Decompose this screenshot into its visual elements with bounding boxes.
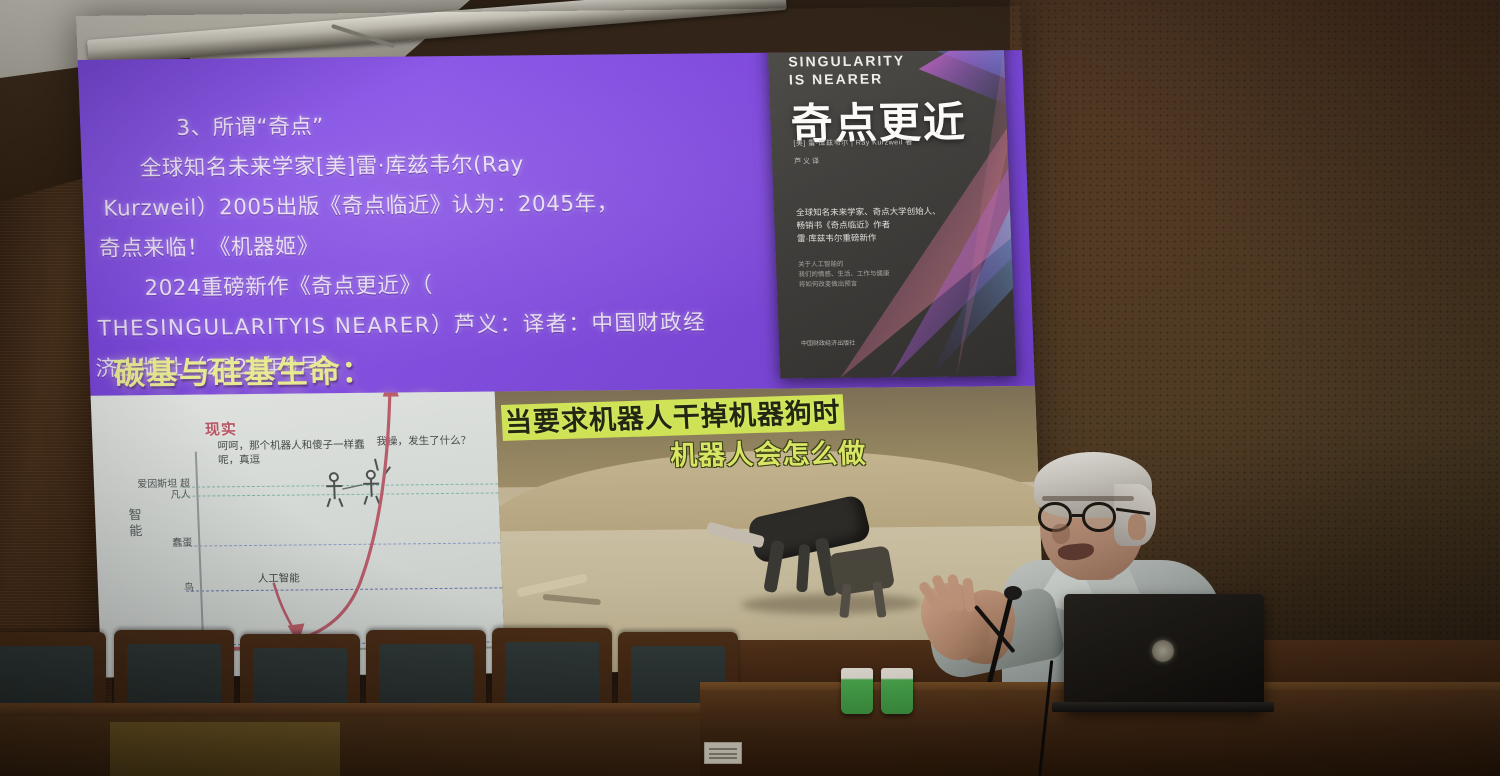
book-author-line: [美] 雷·库兹韦尔 | Ray Kurzweil 著 [793,137,913,148]
laptop-base [1052,702,1274,712]
laptop-logo-icon [1152,640,1174,662]
book-sub-blurb: 关于人工智能的 我们的情感、生活、工作与健康 将如何改变做出预言 [798,259,890,290]
photo-headline-line-2: 机器人会怎么做 [670,439,867,471]
slide-line-2: 全球知名未来学家[美]雷·库兹韦尔(Ray [139,142,797,189]
book-blurb-line-1: 全球知名未来学家、奇点大学创始人、 [796,205,941,220]
slide-line-5: 2024重磅新作《奇点更近》（ [144,262,802,309]
book-en-line-3: IS NEARER [789,69,907,88]
slide-purple-section: 3、所谓“奇点” 全球知名未来学家[美]雷·库兹韦尔(Ray Kurzweil）… [78,50,1035,400]
book-blurb-line-3: 雷·库兹韦尔重磅新作 [797,231,942,246]
glasses-bridge [1072,514,1084,517]
laptop [1064,594,1264,710]
book-publisher: 中国财政经济出版社 [801,338,855,348]
book-sub-line-2: 我们的情感、生活、工作与健康 [798,269,889,280]
paper-cup [841,668,873,714]
glasses-temple [1116,508,1150,516]
book-en-line-2: SINGULARITY [788,51,906,70]
glasses-lens-right [1082,502,1116,532]
slide-title-line-1: 碳基与硅基生命： [113,350,675,394]
slide-paragraph: 3、所谓“奇点” 全球知名未来学家[美]雷·库兹韦尔(Ray Kurzweil）… [104,102,805,389]
front-desk-panel [110,722,340,776]
lecture-hall-photo: 3、所谓“奇点” 全球知名未来学家[美]雷·库兹韦尔(Ray Kurzweil）… [0,0,1500,776]
front-desk [0,716,700,776]
desk-name-card [704,742,742,764]
book-cover-image: THE SINGULARITY IS NEARER 奇点更近 [美] 雷·库兹韦… [766,50,1016,378]
slide-line-6: THESINGULARITYIS NEARER）芦义：译者：中国财政经 [97,302,803,349]
slide-line-1: 3、所谓“奇点” [176,102,796,148]
presenter-nose [1052,524,1070,544]
presenter-brow [1042,496,1134,501]
book-blurb: 全球知名未来学家、奇点大学创始人、 畅销书《奇点临近》作者 雷·库兹韦尔重磅新作 [796,205,942,245]
book-english-title: THE SINGULARITY IS NEARER [787,50,906,88]
book-translator-line: 芦 义 译 [794,156,819,166]
microphone-capsule-icon [1004,586,1022,600]
photo-headline-line-1: 当要求机器人干掉机器狗时 [501,394,845,441]
paper-cup [881,668,913,714]
book-sub-line-3: 将如何改变做出预言 [799,279,890,290]
robot-dog-body [829,545,896,595]
